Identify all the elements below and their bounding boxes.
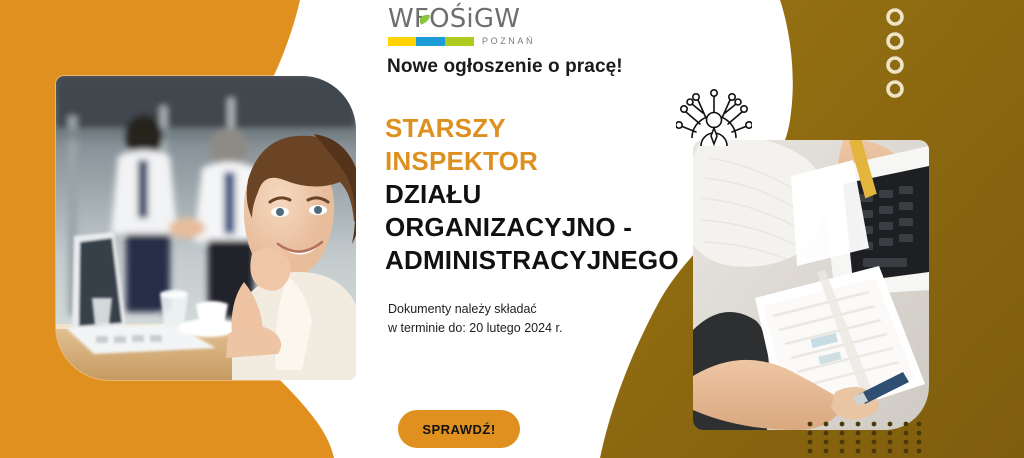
title-line-2: INSPEKTOR <box>385 145 685 178</box>
ring-decoration <box>878 8 912 102</box>
logo-bar-yellow <box>388 37 416 46</box>
logo: WFOŚiGW POZNAŃ <box>372 6 517 50</box>
logo-wordmark: WFOŚiGW <box>388 6 533 32</box>
title-line-1: STARSZY <box>385 112 685 145</box>
deadline-line-2: w terminie do: 20 lutego 2024 r. <box>388 319 562 338</box>
job-advert-banner: WFOŚiGW POZNAŃ Nowe ogłoszenie o pracę! … <box>0 0 1024 458</box>
deadline-text: Dokumenty należy składać w terminie do: … <box>388 300 562 338</box>
logo-city: POZNAŃ <box>482 36 535 46</box>
person-network-icon <box>676 82 752 148</box>
dot-grid-decoration <box>806 420 922 454</box>
right-photo <box>693 140 929 430</box>
sprawdz-button[interactable]: SPRAWDŹ! <box>398 410 520 448</box>
title-line-4: ORGANIZACYJNO - <box>385 211 685 244</box>
logo-bar-blue <box>416 37 444 46</box>
page-title: STARSZY INSPEKTOR DZIAŁU ORGANIZACYJNO -… <box>385 112 685 277</box>
title-line-5: ADMINISTRACYJNEGO <box>385 244 685 277</box>
kicker-text: Nowe ogłoszenie o pracę! <box>387 56 623 78</box>
logo-color-bar <box>388 37 474 46</box>
logo-bar-green <box>445 37 474 46</box>
leaf-icon <box>418 14 431 26</box>
title-line-3: DZIAŁU <box>385 178 685 211</box>
left-photo <box>56 76 356 380</box>
deadline-line-1: Dokumenty należy składać <box>388 300 562 319</box>
